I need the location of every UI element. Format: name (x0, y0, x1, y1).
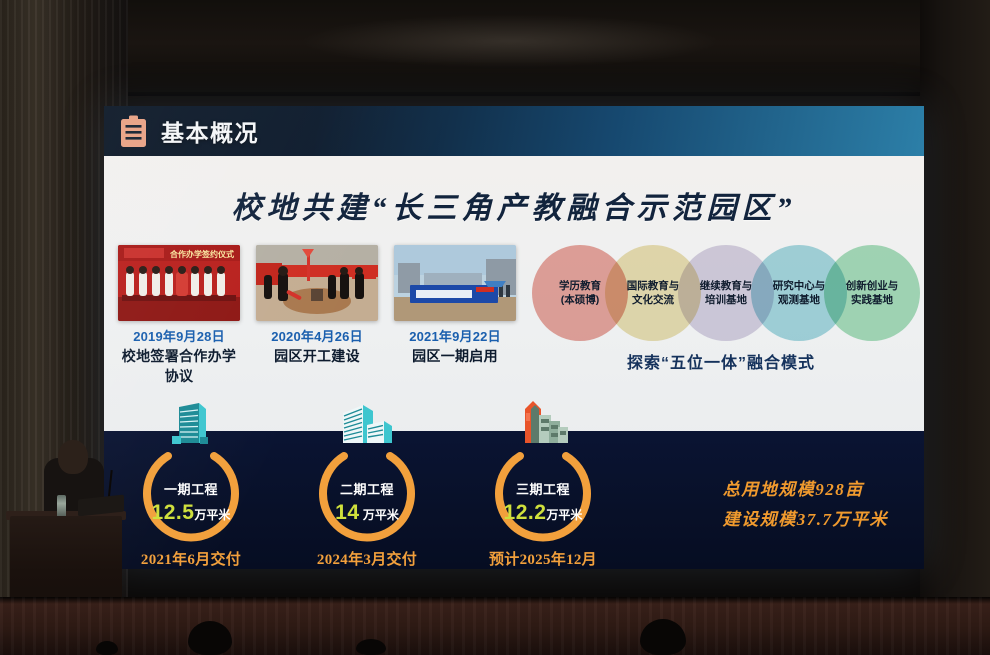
phase-ring: 一期工程 12.5万平米 (136, 442, 246, 546)
audience-head (640, 619, 686, 655)
photo-caption: 园区一期启用 (394, 346, 516, 366)
photo-item: 2021年9月22日 园区一期启用 (394, 245, 516, 386)
slide-headline: 校地共建“长三角产教融合示范园区” (104, 183, 924, 227)
page-title: 基本概况 (161, 114, 259, 148)
svg-text:合作办学签约仪式: 合作办学签约仪式 (169, 249, 234, 259)
slide-header: 基本概况 (104, 106, 924, 156)
clipboard-icon (120, 115, 147, 148)
phase-unit: 万平米 (363, 508, 399, 522)
photo-item: 合作办学签约仪式 (118, 245, 240, 386)
circle-line2: 实践基地 (851, 294, 893, 306)
phase-name: 二期工程 (340, 479, 394, 498)
phase-item-2: 二期工程 14 万平米 2024年3月交付 (298, 397, 436, 569)
circles-caption: 探索“五位一体”融合模式 (532, 349, 910, 373)
photo-group: 合作办学签约仪式 (118, 245, 516, 386)
phase-item-3: 三期工程 12.2万平米 预计2025年12月 (474, 397, 612, 569)
summary-line-2: 建设规模37.7万平米 (723, 505, 888, 535)
phase-unit: 万平米 (194, 508, 230, 522)
right-wall-panels (920, 0, 990, 600)
bottom-navy-panel: 一期工程 12.5万平米 2021年6月交付 (104, 431, 924, 569)
groundbreaking-photo (256, 245, 378, 321)
circle-line1: 继续教育与 (700, 280, 753, 292)
venn-circles: 学历教育 (本硕博) 国际教育与 文化交流 继续教育与 培训基地 研究中心与 (532, 245, 910, 341)
ceiling-light-glow (300, 14, 720, 68)
auditorium-scene: 基本概况 校地共建“长三角产教融合示范园区” 合作办学签约仪式 (0, 0, 990, 655)
circle-line2: 观测基地 (778, 294, 820, 306)
phase-date: 2024年3月交付 (298, 548, 436, 569)
circle-line1: 研究中心与 (773, 280, 826, 292)
projection-screen: 基本概况 校地共建“长三角产教融合示范园区” 合作办学签约仪式 (104, 106, 924, 569)
campus-opening-photo (394, 245, 516, 321)
photo-item: 2020年4月26日 园区开工建设 (256, 245, 378, 386)
photo-date: 2019年9月28日 (118, 326, 240, 345)
phase-value: 12.5 (152, 501, 195, 524)
circle-line2: 文化交流 (632, 294, 674, 306)
circle-line1: 学历教育 (559, 280, 601, 292)
phase-name: 三期工程 (516, 479, 570, 498)
photo-date: 2020年4月26日 (256, 326, 378, 345)
circle-item-5: 创新创业与 实践基地 (824, 245, 920, 341)
phase-name: 一期工程 (164, 479, 218, 498)
speaker-head (58, 440, 88, 474)
circles-group: 学历教育 (本硕博) 国际教育与 文化交流 继续教育与 培训基地 研究中心与 (532, 245, 910, 386)
phase-date: 2021年6月交付 (122, 548, 260, 569)
summary-line-1: 总用地规模928亩 (723, 475, 888, 505)
phase-value: 12.2 (504, 501, 547, 524)
photo-caption: 校地签署合作办学协议 (118, 346, 240, 386)
middle-row: 合作办学签约仪式 (104, 245, 924, 386)
phase-unit: 万平米 (546, 508, 582, 522)
phase-ring: 三期工程 12.2万平米 (488, 442, 598, 546)
phase-item-1: 一期工程 12.5万平米 2021年6月交付 (122, 397, 260, 569)
circle-line2: 培训基地 (705, 294, 747, 306)
photo-caption: 园区开工建设 (256, 346, 378, 366)
phase-group: 一期工程 12.5万平米 2021年6月交付 (122, 397, 612, 569)
phase-value: 14 (335, 501, 359, 524)
circle-line1: 国际教育与 (627, 280, 680, 292)
phase-date: 预计2025年12月 (474, 548, 612, 569)
circle-line2: (本硕博) (561, 294, 600, 306)
slide-body: 校地共建“长三角产教融合示范园区” 合作办学签约仪式 (104, 156, 924, 569)
photo-date: 2021年9月22日 (394, 326, 516, 345)
audience-head (356, 639, 386, 655)
audience-head (188, 621, 232, 655)
phase-ring: 二期工程 14 万平米 (312, 442, 422, 546)
stage-front (0, 597, 990, 655)
audience-head (96, 641, 118, 655)
summary-block: 总用地规模928亩 建设规模37.7万平米 (723, 475, 888, 535)
circle-line1: 创新创业与 (846, 280, 899, 292)
signing-ceremony-photo: 合作办学签约仪式 (118, 245, 240, 321)
